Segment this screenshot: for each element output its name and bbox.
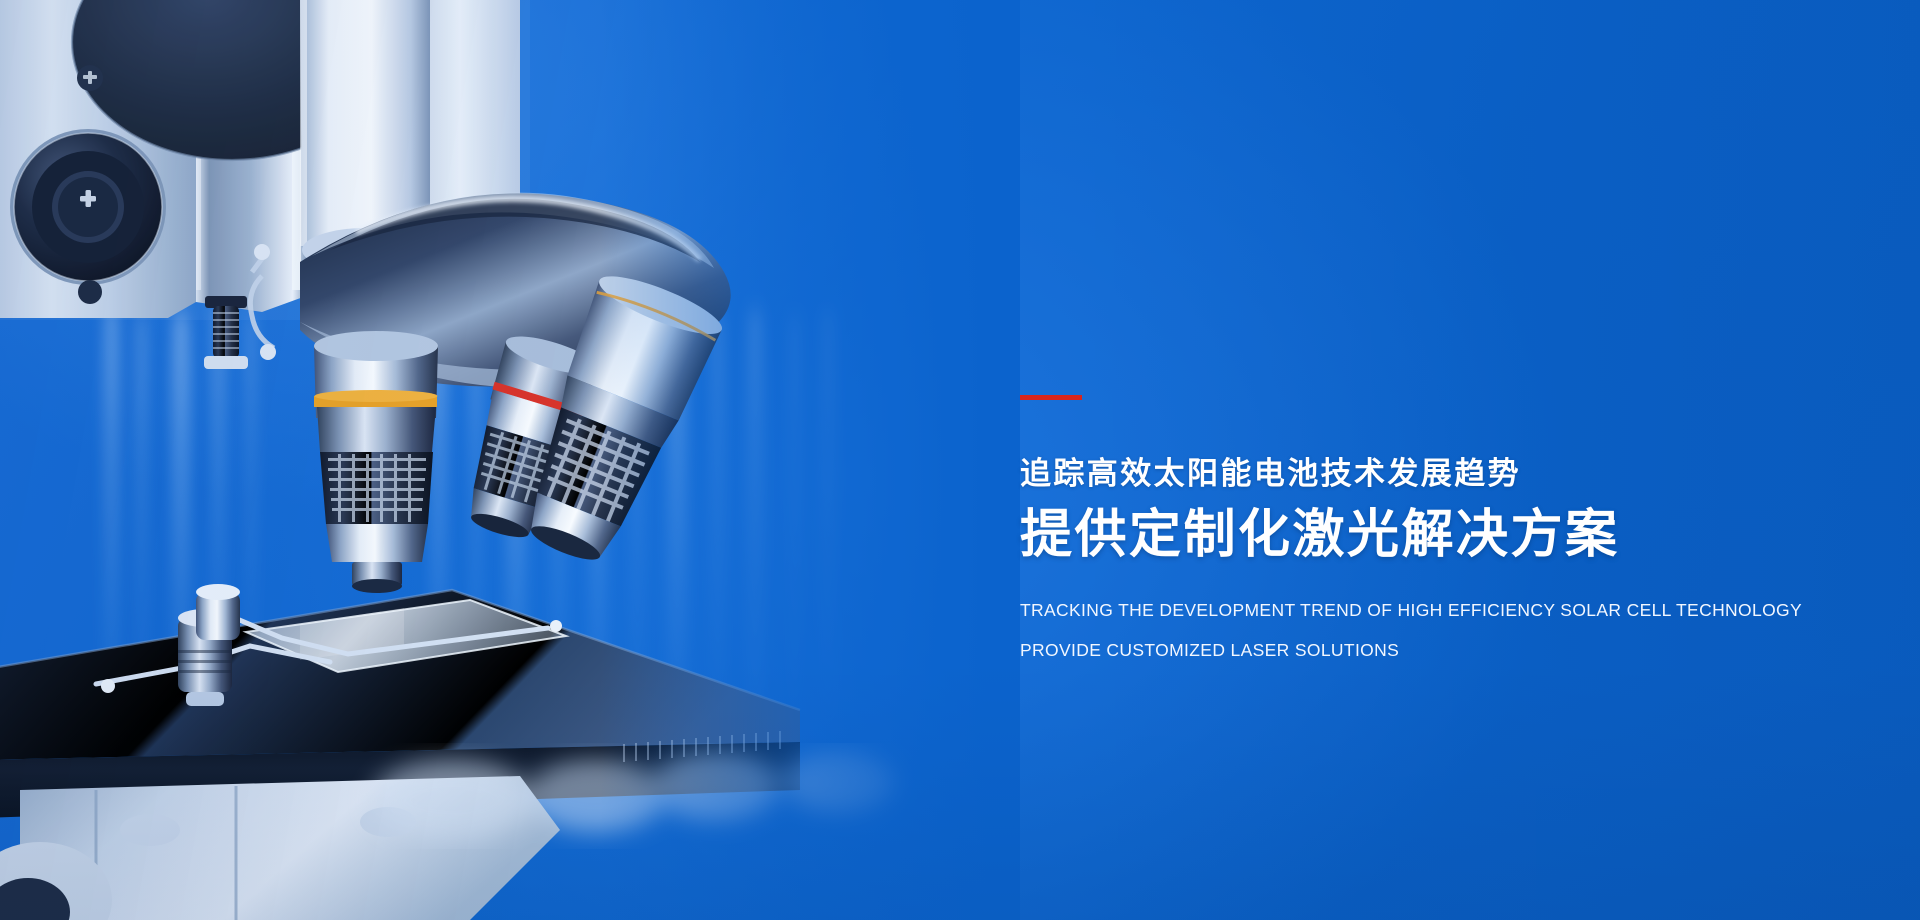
- subtitle-line-1: TRACKING THE DEVELOPMENT TREND OF HIGH E…: [1020, 602, 1860, 620]
- subtitle-line-2: PROVIDE CUSTOMIZED LASER SOLUTIONS: [1020, 642, 1860, 660]
- hero-banner: 追踪高效太阳能电池技术发展趋势 提供定制化激光解决方案 TRACKING THE…: [0, 0, 1920, 920]
- headline-secondary: 追踪高效太阳能电池技术发展趋势: [1020, 457, 1860, 491]
- headline-primary: 提供定制化激光解决方案: [1020, 505, 1860, 566]
- accent-bar: [1020, 395, 1082, 400]
- banner-copy: 追踪高效太阳能电池技术发展趋势 提供定制化激光解决方案 TRACKING THE…: [1020, 395, 1860, 659]
